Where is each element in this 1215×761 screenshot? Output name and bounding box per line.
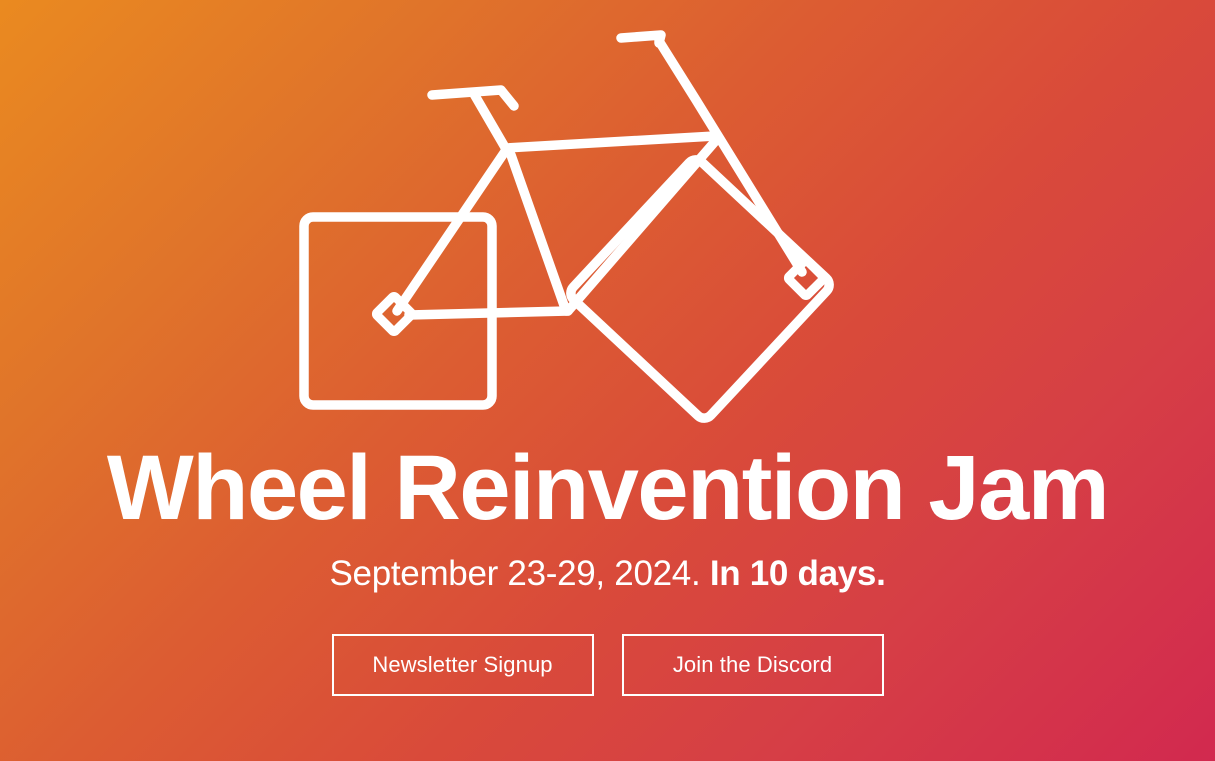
top-tube [506, 136, 715, 148]
bicycle-illustration-svg [278, 18, 938, 418]
event-dates: September 23-29, 2024. [329, 554, 700, 593]
newsletter-signup-button[interactable]: Newsletter Signup [332, 634, 594, 696]
hero-section: Wheel Reinvention Jam September 23-29, 2… [0, 0, 1215, 761]
event-dates-line: September 23-29, 2024. In 10 days. [329, 554, 885, 594]
saddle-icon [621, 35, 661, 43]
chainstay-tube [409, 311, 568, 315]
countdown-text: In 10 days. [710, 554, 886, 593]
seat-tube [511, 155, 566, 311]
seatpost-tube [659, 41, 802, 272]
square-wheeled-bicycle-logo [278, 18, 938, 418]
join-discord-button[interactable]: Join the Discord [622, 634, 884, 696]
rear-stay-tube [568, 138, 718, 311]
stem-tube [474, 94, 506, 149]
page-title: Wheel Reinvention Jam [107, 442, 1108, 534]
cta-button-row: Newsletter Signup Join the Discord [332, 634, 884, 696]
